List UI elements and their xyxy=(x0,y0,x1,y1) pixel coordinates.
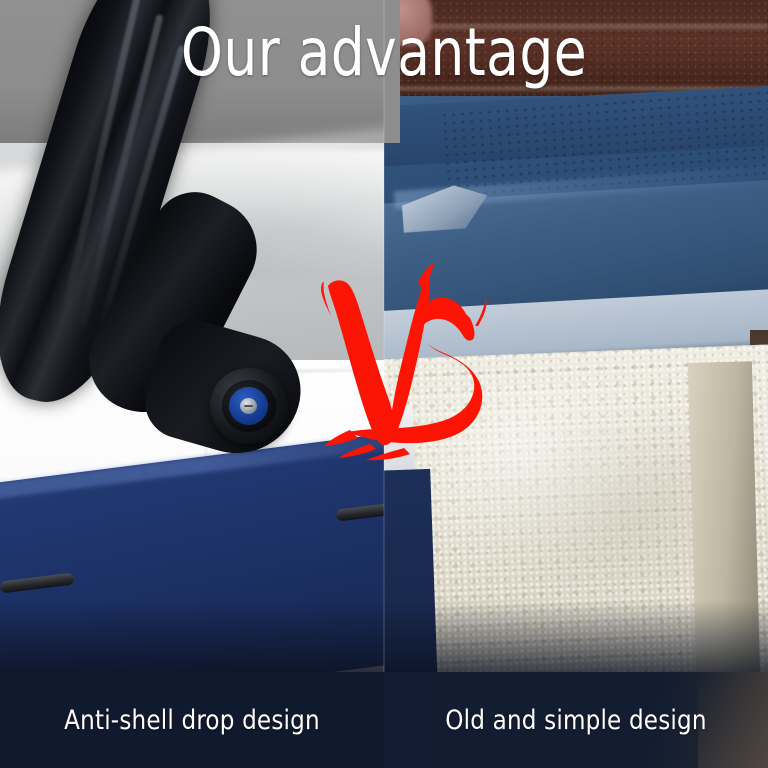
advantage-comparison-banner: Our advantage Anti-shell drop design Old… xyxy=(0,0,768,768)
styrofoam-side-face xyxy=(688,361,760,679)
banner-title: Our advantage xyxy=(38,18,729,87)
vs-letter-v xyxy=(328,272,430,445)
vs-brush-splatter xyxy=(338,444,376,458)
right-caption: Old and simple design xyxy=(394,672,759,768)
vs-s-brush-tip xyxy=(475,298,487,326)
caption-bar: Anti-shell drop design Old and simple de… xyxy=(0,672,768,768)
left-caption: Anti-shell drop design xyxy=(10,672,375,768)
left-edge-blue-sliver xyxy=(384,469,438,691)
hinge-screw-icon xyxy=(240,398,257,414)
versus-brush-logo xyxy=(318,262,488,482)
